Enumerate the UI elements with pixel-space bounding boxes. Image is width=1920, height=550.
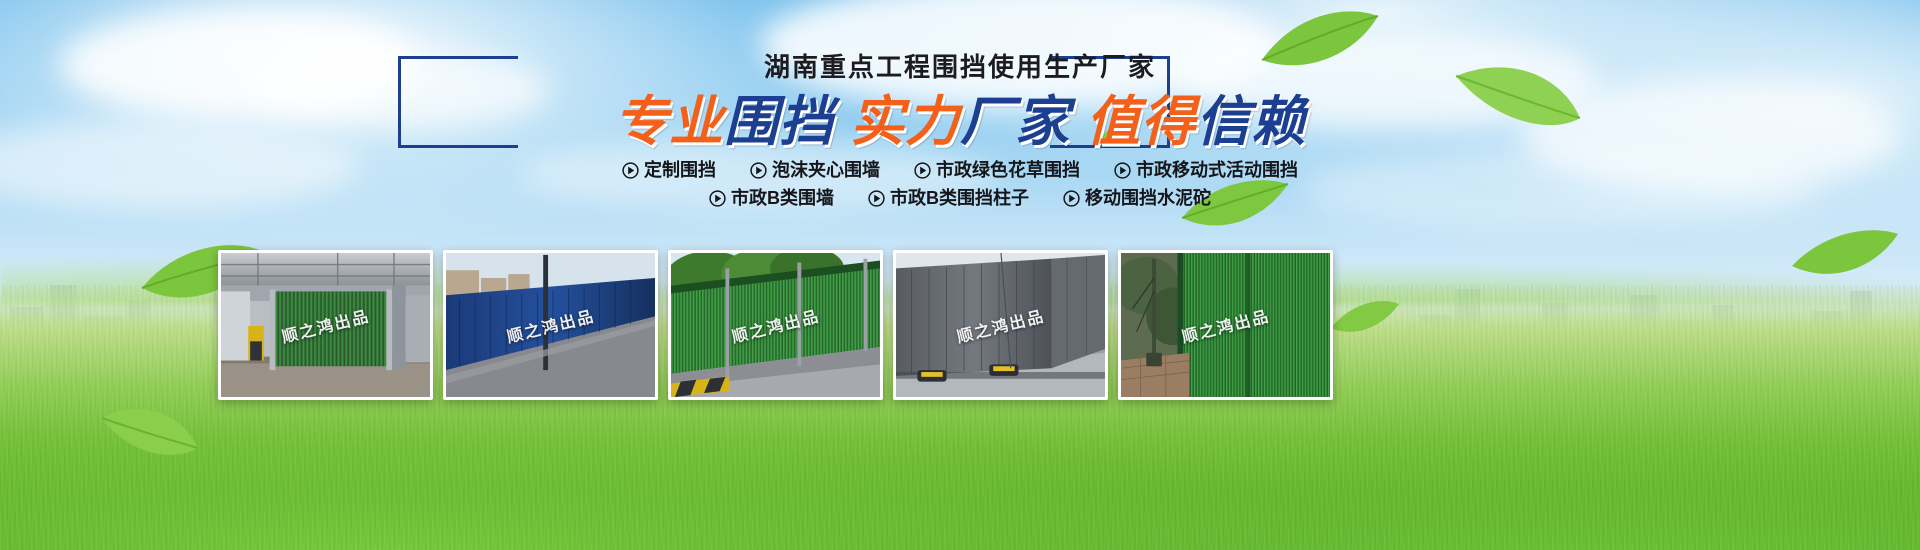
headline-part-4: 厂家 xyxy=(960,93,1070,151)
feature-label: 市政绿色花草围挡 xyxy=(936,158,1080,182)
feature-item[interactable]: 市政绿色花草围挡 xyxy=(914,158,1080,182)
play-circle-icon xyxy=(1063,190,1080,207)
product-photo-strip: 顺之鸿出品 xyxy=(218,250,1333,400)
feature-label: 定制围挡 xyxy=(644,158,716,182)
headline-part-6: 信赖 xyxy=(1196,93,1306,151)
feature-label: 移动围挡水泥砣 xyxy=(1085,186,1211,210)
photo-grass-fence-street[interactable]: 顺之鸿出品 xyxy=(668,250,883,400)
play-circle-icon xyxy=(868,190,885,207)
play-circle-icon xyxy=(622,162,639,179)
promo-banner: 湖南重点工程围挡使用生产厂家 专业围挡实力厂家值得信赖 定制围挡泡沫夹心围墙市政… xyxy=(0,0,1920,550)
banner-headline: 专业围挡实力厂家值得信赖 xyxy=(0,93,1920,151)
play-circle-icon xyxy=(914,162,931,179)
headline-part-2: 围挡 xyxy=(724,93,834,151)
headline-block: 湖南重点工程围挡使用生产厂家 专业围挡实力厂家值得信赖 定制围挡泡沫夹心围墙市政… xyxy=(0,0,1920,250)
photo-blue-fence-road[interactable]: 顺之鸿出品 xyxy=(443,250,658,400)
photo-green-fence-warehouse[interactable]: 顺之鸿出品 xyxy=(218,250,433,400)
feature-item[interactable]: 泡沫夹心围墙 xyxy=(750,158,880,182)
play-circle-icon xyxy=(709,190,726,207)
headline-part-5: 值得 xyxy=(1086,93,1196,151)
photo-grey-mobile-fence[interactable]: 顺之鸿出品 xyxy=(893,250,1108,400)
feature-row-2: 市政B类围墙市政B类围挡柱子移动围挡水泥砣 xyxy=(0,186,1920,210)
feature-label: 市政移动式活动围挡 xyxy=(1136,158,1298,182)
feature-item[interactable]: 移动围挡水泥砣 xyxy=(1063,186,1211,210)
headline-part-1: 专业 xyxy=(614,93,724,151)
play-circle-icon xyxy=(750,162,767,179)
feature-list: 定制围挡泡沫夹心围墙市政绿色花草围挡市政移动式活动围挡 市政B类围墙市政B类围挡… xyxy=(0,158,1920,214)
feature-item[interactable]: 市政B类围挡柱子 xyxy=(868,186,1029,210)
feature-label: 市政B类围挡柱子 xyxy=(890,186,1029,210)
feature-row-1: 定制围挡泡沫夹心围墙市政绿色花草围挡市政移动式活动围挡 xyxy=(0,158,1920,182)
photo-green-grass-wall[interactable]: 顺之鸿出品 xyxy=(1118,250,1333,400)
feature-item[interactable]: 市政移动式活动围挡 xyxy=(1114,158,1298,182)
feature-label: 市政B类围墙 xyxy=(731,186,834,210)
play-circle-icon xyxy=(1114,162,1131,179)
feature-item[interactable]: 市政B类围墙 xyxy=(709,186,834,210)
banner-subtitle: 湖南重点工程围挡使用生产厂家 xyxy=(0,52,1920,82)
feature-label: 泡沫夹心围墙 xyxy=(772,158,880,182)
feature-item[interactable]: 定制围挡 xyxy=(622,158,716,182)
headline-part-3: 实力 xyxy=(850,93,960,151)
